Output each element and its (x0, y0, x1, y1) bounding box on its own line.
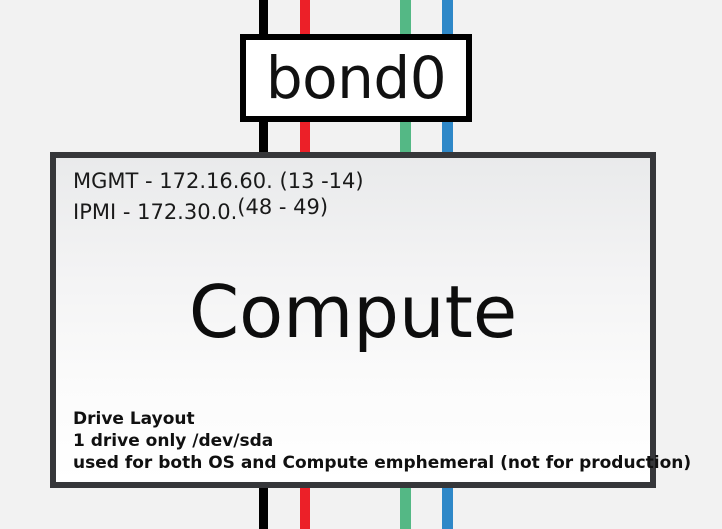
bond-interface-label: bond0 (266, 49, 446, 107)
drive-layout-line-2: used for both OS and Compute emphemeral … (73, 452, 691, 474)
network-range-ipmi: (48 - 49) (237, 195, 328, 219)
drive-layout-line-1: 1 drive only /dev/sda (73, 430, 691, 452)
network-address-block: MGMT - 172.16.60. (13 -14) IPMI - 172.30… (73, 166, 364, 228)
drive-layout-heading: Drive Layout (73, 408, 691, 430)
network-diagram-canvas: bond0 MGMT - 172.16.60. (13 -14) IPMI - … (0, 0, 722, 529)
network-label-ipmi: IPMI - 172.30.0. (73, 200, 237, 224)
bond-interface-box: bond0 (240, 34, 472, 122)
network-label-mgmt: MGMT - 172.16.60. (73, 169, 273, 193)
network-line-ipmi: IPMI - 172.30.0.(48 - 49) (73, 197, 364, 228)
network-line-mgmt: MGMT - 172.16.60. (13 -14) (73, 166, 364, 197)
compute-node-box: MGMT - 172.16.60. (13 -14) IPMI - 172.30… (50, 152, 656, 488)
drive-layout-block: Drive Layout 1 drive only /dev/sda used … (73, 408, 691, 474)
network-range-mgmt: (13 -14) (280, 169, 364, 193)
compute-node-title: Compute (56, 276, 650, 348)
